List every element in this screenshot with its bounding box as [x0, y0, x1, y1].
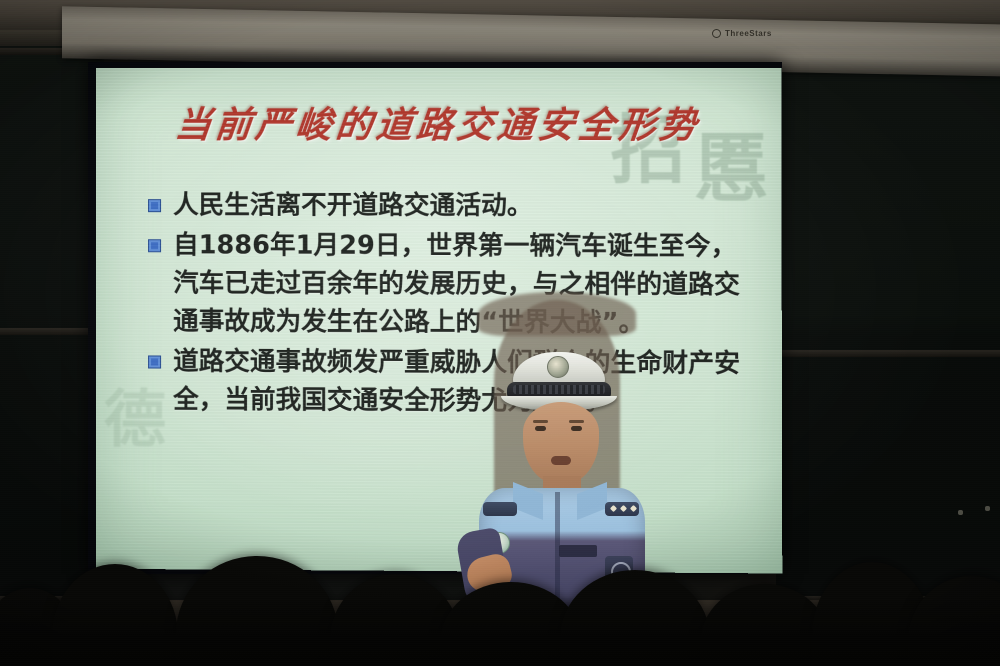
uniform-epaulette-left [483, 502, 517, 516]
screen-brand-label: ThreeStars [712, 26, 802, 40]
presenter-eye-left [535, 426, 546, 431]
bullet-square-icon [148, 239, 161, 252]
projection-screen: 招 慝 德 当前严峻的道路交通安全形势 人民生活离不开道路交通活动。 自1886… [96, 68, 782, 573]
presenter-eye-right [571, 426, 582, 431]
brand-name-text: ThreeStars [725, 29, 772, 38]
slide-bullet-1: 人民生活离不开道路交通活动。 [148, 186, 761, 225]
presenter-eyebrow-right [569, 420, 584, 423]
presenter-face [523, 402, 599, 484]
brand-logo-icon [712, 29, 721, 38]
bullet-square-icon [148, 199, 161, 212]
presenter-eyebrow-left [533, 420, 548, 423]
blackboard-panel-right [776, 46, 1000, 606]
slide-bullet-2: 自1886年1月29日，世界第一辆汽车诞生至今，汽车已走过百余年的发展历史，与之… [148, 226, 761, 343]
audience-darkness-veil [0, 596, 1000, 666]
bullet-text: 自1886年1月29日，世界第一辆汽车诞生至今，汽车已走过百余年的发展历史，与之… [173, 226, 761, 342]
chalk-piece [985, 506, 990, 511]
audience-silhouettes [0, 560, 1000, 666]
slide-title: 当前严峻的道路交通安全形势 [96, 96, 782, 149]
presenter-mouth [551, 456, 571, 465]
chalk-piece [958, 510, 963, 515]
screenshot-stage: ThreeStars 招 慝 德 当前严峻的道路交通安全形势 人民生活离不开道路… [0, 0, 1000, 666]
police-cap-emblem-icon [547, 356, 569, 378]
blackboard-rail [776, 350, 1000, 357]
uniform-name-tag [559, 545, 597, 557]
bullet-square-icon [148, 355, 161, 368]
bullet-text: 人民生活离不开道路交通活动。 [173, 186, 761, 225]
